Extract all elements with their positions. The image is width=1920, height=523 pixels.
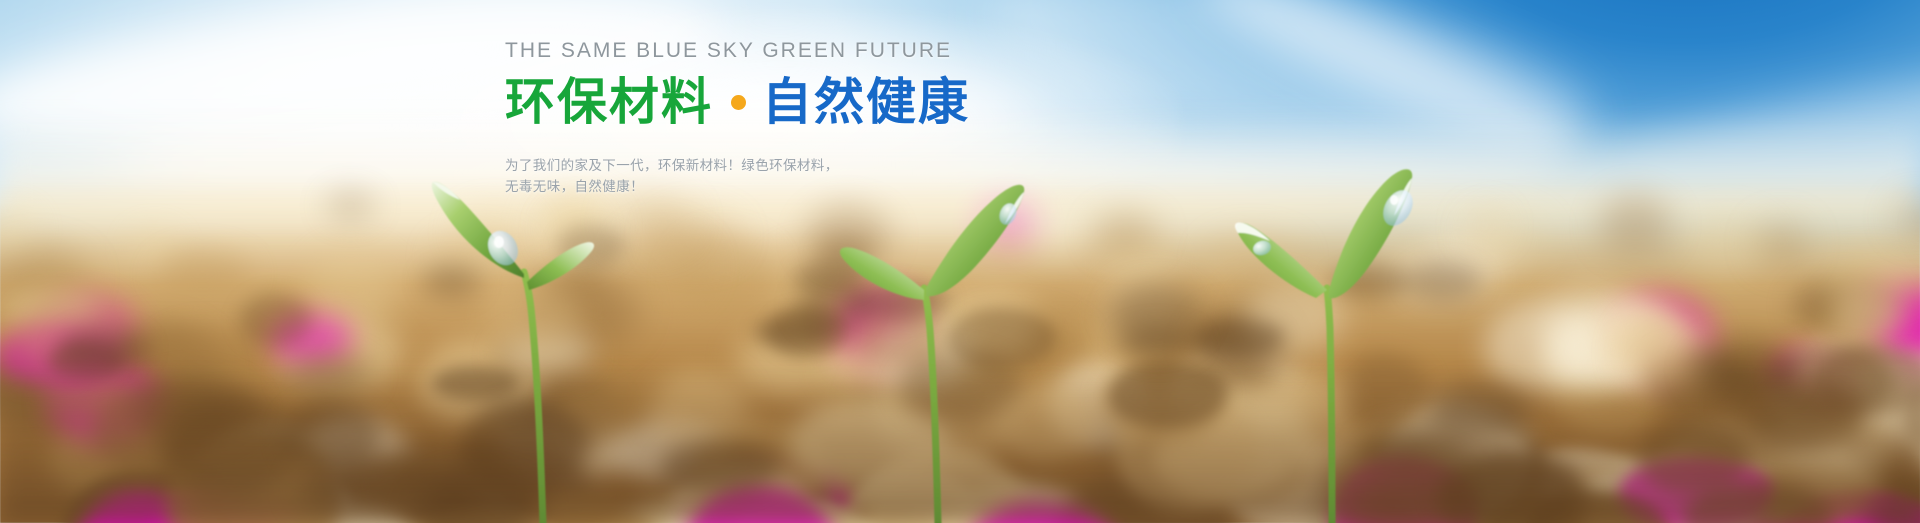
headline-separator-dot-icon [731, 95, 746, 110]
hero-banner: THE SAME BLUE SKY GREEN FUTURE 环保材料 自然健康… [0, 0, 1920, 523]
description-line-2: 无毒无味，自然健康！ [505, 176, 1125, 197]
headline-green-text: 环保材料 [505, 77, 713, 127]
soil-ground [0, 183, 1920, 523]
description-line-1: 为了我们的家及下一代，环保新材料！绿色环保材料， [505, 155, 1125, 176]
headline-blue-text: 自然健康 [762, 77, 970, 127]
banner-eyebrow-text: THE SAME BLUE SKY GREEN FUTURE [505, 40, 1125, 61]
banner-description: 为了我们的家及下一代，环保新材料！绿色环保材料， 无毒无味，自然健康！ [505, 155, 1125, 197]
banner-copy-block: THE SAME BLUE SKY GREEN FUTURE 环保材料 自然健康… [505, 40, 1125, 197]
banner-headline: 环保材料 自然健康 [505, 77, 1125, 127]
